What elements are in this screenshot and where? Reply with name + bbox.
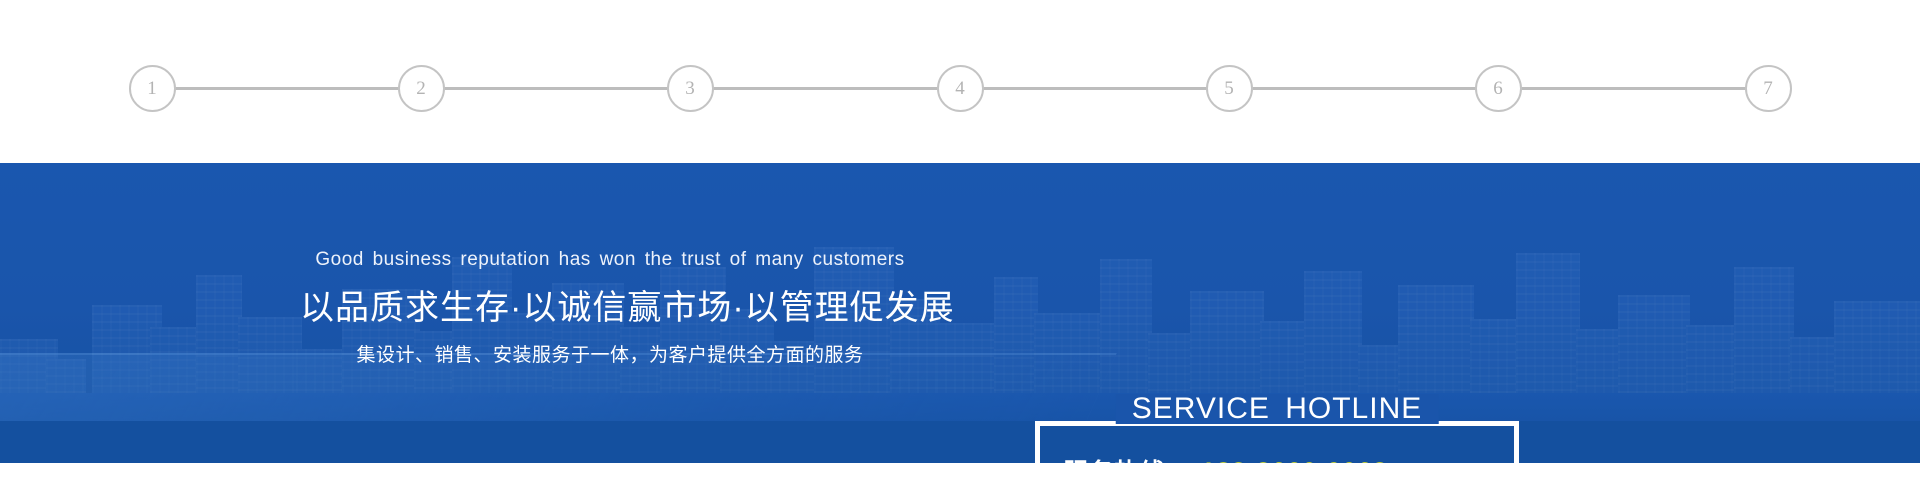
stepper-step-label: 6 bbox=[1493, 79, 1503, 98]
stepper-step-2[interactable]: 2 bbox=[398, 65, 445, 112]
stepper-step-label: 5 bbox=[1224, 79, 1234, 98]
stepper-step-4[interactable]: 4 bbox=[937, 65, 984, 112]
stepper-step-6[interactable]: 6 bbox=[1475, 65, 1522, 112]
slogan-block: Good business reputation has won the tru… bbox=[300, 249, 920, 367]
hotline-label: 服务热线： bbox=[1063, 457, 1191, 463]
stepper-step-label: 4 bbox=[955, 79, 965, 98]
service-hotline-box: SERVICE HOTLINE 服务热线： 183-2660-0068 服务热线… bbox=[1035, 421, 1519, 463]
page-root: 1 2 3 4 5 6 7 bbox=[0, 0, 1920, 500]
hotline-title: SERVICE HOTLINE bbox=[1116, 394, 1439, 424]
slogan-chinese-main: 以品质求生存·以诚信赢市场·以管理促发展 bbox=[300, 288, 920, 329]
stepper-step-1[interactable]: 1 bbox=[129, 65, 176, 112]
stepper-step-label: 2 bbox=[416, 79, 426, 98]
hotline-numbers: 服务热线： 183-2660-0068 服务热线： 0551-63749777 bbox=[1035, 455, 1519, 463]
stepper-step-label: 7 bbox=[1763, 79, 1773, 98]
stepper-step-label: 1 bbox=[147, 79, 157, 98]
stepper: 1 2 3 4 5 6 7 bbox=[0, 0, 1920, 163]
stepper-step-label: 3 bbox=[685, 79, 695, 98]
slogan-english: Good business reputation has won the tru… bbox=[300, 249, 920, 272]
promo-banner: Good business reputation has won the tru… bbox=[0, 163, 1920, 463]
banner-bottom-strip bbox=[0, 421, 1920, 463]
hotline-number-primary[interactable]: 183-2660-0068 bbox=[1201, 455, 1388, 463]
hotline-row-primary: 服务热线： 183-2660-0068 bbox=[1063, 455, 1519, 463]
stepper-step-3[interactable]: 3 bbox=[667, 65, 714, 112]
stepper-step-7[interactable]: 7 bbox=[1745, 65, 1792, 112]
stepper-step-5[interactable]: 5 bbox=[1206, 65, 1253, 112]
slogan-chinese-sub: 集设计、销售、安装服务于一体，为客户提供全方面的服务 bbox=[300, 345, 920, 368]
